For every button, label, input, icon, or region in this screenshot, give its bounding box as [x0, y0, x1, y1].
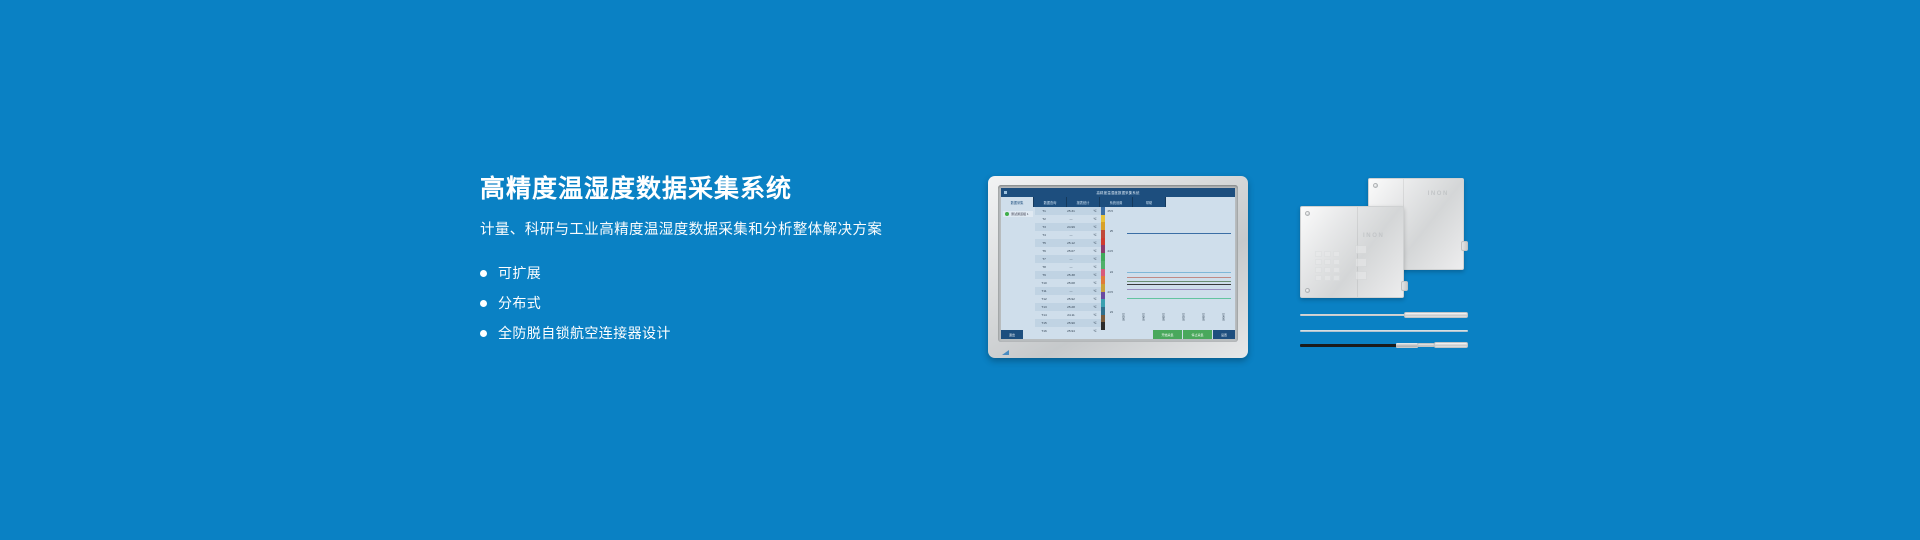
channel-unit: ℃	[1089, 297, 1101, 301]
status-led-icon	[1005, 212, 1009, 216]
channel-unit: ℃	[1089, 209, 1101, 213]
chart-series-line	[1127, 233, 1231, 234]
probe-tip	[1404, 312, 1468, 318]
x-tick-label: 10:40:00	[1222, 313, 1225, 321]
list-item: 分布式	[480, 288, 950, 318]
channel-name: T9	[1035, 273, 1053, 277]
channel-tree-panel: 测试通道组 1	[1001, 207, 1035, 330]
x-tick-label: 10:32:00	[1182, 313, 1185, 321]
chart-series-line	[1127, 289, 1231, 290]
channel-unit: ℃	[1089, 281, 1101, 285]
channel-name: T3	[1035, 225, 1053, 229]
chart-series-line	[1127, 284, 1231, 285]
bullet-dot-icon	[480, 300, 487, 307]
software-tab-bar: 数据采集 数据查询 报表统计 系统设置 帮助	[1001, 197, 1235, 207]
exit-button[interactable]: 退出	[1001, 330, 1023, 339]
software-title-bar: 高精度温湿度数据采集系统	[1001, 188, 1235, 197]
connector-grid	[1315, 251, 1340, 281]
mounting-lug	[1461, 241, 1468, 251]
table-row[interactable]: T1325.28℃	[1035, 303, 1101, 311]
connector-probe	[1300, 342, 1468, 348]
hero-copy: 高精度温湿度数据采集系统 计量、科研与工业高精度温湿度数据采集和分析整体解决方案…	[480, 174, 950, 348]
settings-button[interactable]: 设置	[1213, 330, 1235, 339]
tab-bar-filler	[1166, 197, 1235, 207]
channel-value: 25.28	[1053, 305, 1089, 309]
probe-tip	[1434, 342, 1468, 348]
channel-name: T11	[1035, 289, 1053, 293]
thin-cable-probe	[1300, 328, 1468, 334]
channel-value-table: T125.31℃T2---℃T324.99℃T4---℃T525.12℃T625…	[1035, 207, 1101, 330]
channel-unit: ℃	[1089, 313, 1101, 317]
list-item: 可扩展	[480, 258, 950, 288]
connector-panel	[1315, 245, 1367, 285]
monitor-screen: 高精度温湿度数据采集系统 数据采集 数据查询 报表统计 系统设置 帮助	[1001, 188, 1235, 339]
table-row[interactable]: T525.12℃	[1035, 239, 1101, 247]
channel-unit: ℃	[1089, 217, 1101, 221]
chart-series-line	[1127, 281, 1231, 282]
probe-connector	[1417, 343, 1435, 347]
feature-label: 全防脱自锁航空连接器设计	[498, 323, 671, 343]
channel-value: ---	[1053, 233, 1089, 237]
channel-unit: ℃	[1089, 289, 1101, 293]
table-row[interactable]: T8---℃	[1035, 263, 1101, 271]
enclosure-front-unit: INON	[1300, 206, 1404, 298]
window-title: 高精度温湿度数据采集系统	[1001, 190, 1235, 195]
brand-label: INON	[1363, 233, 1384, 239]
channel-name: T5	[1035, 241, 1053, 245]
channel-name: T1	[1035, 209, 1053, 213]
channel-value: ---	[1053, 265, 1089, 269]
tab-report[interactable]: 报表统计	[1067, 197, 1100, 207]
channel-unit: ℃	[1089, 305, 1101, 309]
tab-data-acquisition[interactable]: 数据采集	[1001, 197, 1034, 207]
channel-unit: ℃	[1089, 257, 1101, 261]
bullet-dot-icon	[480, 330, 487, 337]
channel-unit: ℃	[1089, 241, 1101, 245]
stop-acquisition-button[interactable]: 停止采集	[1183, 330, 1213, 339]
channel-value: 25.92	[1053, 297, 1089, 301]
table-row[interactable]: T2---℃	[1035, 215, 1101, 223]
software-footer: 退出 开始采集 停止采集 设置	[1001, 330, 1235, 339]
table-row[interactable]: T324.99℃	[1035, 223, 1101, 231]
channel-unit: ℃	[1089, 273, 1101, 277]
channel-unit: ℃	[1089, 321, 1101, 325]
table-row[interactable]: T4---℃	[1035, 231, 1101, 239]
list-item: 全防脱自锁航空连接器设计	[480, 318, 950, 348]
table-row[interactable]: T7---℃	[1035, 255, 1101, 263]
channel-unit: ℃	[1089, 249, 1101, 253]
channel-name: T12	[1035, 297, 1053, 301]
chart-x-axis: 10:20:0010:24:0010:28:0010:32:0010:36:00…	[1113, 313, 1233, 321]
tab-settings[interactable]: 系统设置	[1100, 197, 1133, 207]
screw-icon	[1305, 288, 1310, 293]
tab-data-query[interactable]: 数据查询	[1034, 197, 1067, 207]
table-row[interactable]: T1525.90℃	[1035, 319, 1101, 327]
screw-icon	[1305, 211, 1310, 216]
channel-value: 25.08	[1053, 281, 1089, 285]
channel-name: T14	[1035, 313, 1053, 317]
x-tick-label: 10:20:00	[1122, 313, 1125, 321]
chart-plot-area	[1112, 210, 1233, 314]
monitor-bezel: 高精度温湿度数据采集系统 数据采集 数据查询 报表统计 系统设置 帮助	[988, 176, 1248, 358]
x-tick-label: 10:28:00	[1162, 313, 1165, 321]
chart-series-line	[1127, 298, 1231, 299]
table-row[interactable]: T11---℃	[1035, 287, 1101, 295]
software-body: 测试通道组 1 T125.31℃T2---℃T324.99℃T4---℃T525…	[1001, 207, 1235, 330]
brand-label: INON	[1428, 191, 1449, 197]
channel-name: T7	[1035, 257, 1053, 261]
probe-shaft	[1300, 314, 1408, 316]
tree-node-label: 测试通道组 1	[1011, 212, 1029, 216]
footer-gap	[1023, 330, 1153, 339]
page-subtitle: 计量、科研与工业高精度温湿度数据采集和分析整体解决方案	[480, 220, 950, 240]
channel-value: ---	[1053, 289, 1089, 293]
enclosure-product-image: INON INON	[1300, 178, 1468, 298]
x-tick-label: 10:36:00	[1202, 313, 1205, 321]
chart-series-line	[1127, 272, 1231, 273]
x-tick-label: 10:24:00	[1142, 313, 1145, 321]
channel-value: ---	[1053, 257, 1089, 261]
channel-name: T8	[1035, 265, 1053, 269]
tree-node-channel-group[interactable]: 测试通道组 1	[1003, 211, 1033, 217]
feature-label: 可扩展	[498, 263, 541, 283]
trend-chart: 25.52524.52423.523 10:20:0010:24:0010:28…	[1105, 207, 1235, 330]
probe-cable	[1300, 344, 1398, 347]
port-column	[1355, 245, 1367, 280]
channel-name: T10	[1035, 281, 1053, 285]
table-row[interactable]: T925.38℃	[1035, 271, 1101, 279]
table-row[interactable]: T625.07℃	[1035, 247, 1101, 255]
channel-value: 24.11	[1053, 313, 1089, 317]
channel-name: T15	[1035, 321, 1053, 325]
hero-banner: 高精度温湿度数据采集系统 计量、科研与工业高精度温湿度数据采集和分析整体解决方案…	[0, 0, 1920, 540]
channel-value: 25.38	[1053, 273, 1089, 277]
channel-unit: ℃	[1089, 225, 1101, 229]
channel-unit: ℃	[1089, 233, 1101, 237]
table-row[interactable]: T1424.11℃	[1035, 311, 1101, 319]
feature-label: 分布式	[498, 293, 541, 313]
chart-series-line	[1127, 277, 1231, 278]
tab-help[interactable]: 帮助	[1133, 197, 1166, 207]
table-row[interactable]: T1225.92℃	[1035, 295, 1101, 303]
start-acquisition-button[interactable]: 开始采集	[1153, 330, 1183, 339]
screw-icon	[1373, 183, 1378, 188]
channel-value: 25.07	[1053, 249, 1089, 253]
monitor-inner-frame: 高精度温湿度数据采集系统 数据采集 数据查询 报表统计 系统设置 帮助	[998, 185, 1238, 342]
probe-cable	[1300, 330, 1468, 332]
probe-ferrule	[1396, 343, 1418, 348]
monitor-logo-mark	[1002, 350, 1009, 355]
channel-name: T2	[1035, 217, 1053, 221]
channel-value: 25.12	[1053, 241, 1089, 245]
channel-value: ---	[1053, 217, 1089, 221]
stainless-probe	[1300, 312, 1468, 318]
channel-value: 24.99	[1053, 225, 1089, 229]
channel-name: T13	[1035, 305, 1053, 309]
page-title: 高精度温湿度数据采集系统	[480, 174, 950, 204]
table-row[interactable]: T125.31℃	[1035, 207, 1101, 215]
feature-list: 可扩展 分布式 全防脱自锁航空连接器设计	[480, 258, 950, 348]
channel-name: T6	[1035, 249, 1053, 253]
table-row[interactable]: T1025.08℃	[1035, 279, 1101, 287]
channel-name: T4	[1035, 233, 1053, 237]
bullet-dot-icon	[480, 270, 487, 277]
channel-unit: ℃	[1089, 265, 1101, 269]
channel-value: 25.31	[1053, 209, 1089, 213]
mounting-lug	[1401, 281, 1408, 291]
probe-product-image	[1300, 312, 1468, 360]
monitor-product-image: 高精度温湿度数据采集系统 数据采集 数据查询 报表统计 系统设置 帮助	[988, 176, 1248, 358]
channel-value: 25.90	[1053, 321, 1089, 325]
